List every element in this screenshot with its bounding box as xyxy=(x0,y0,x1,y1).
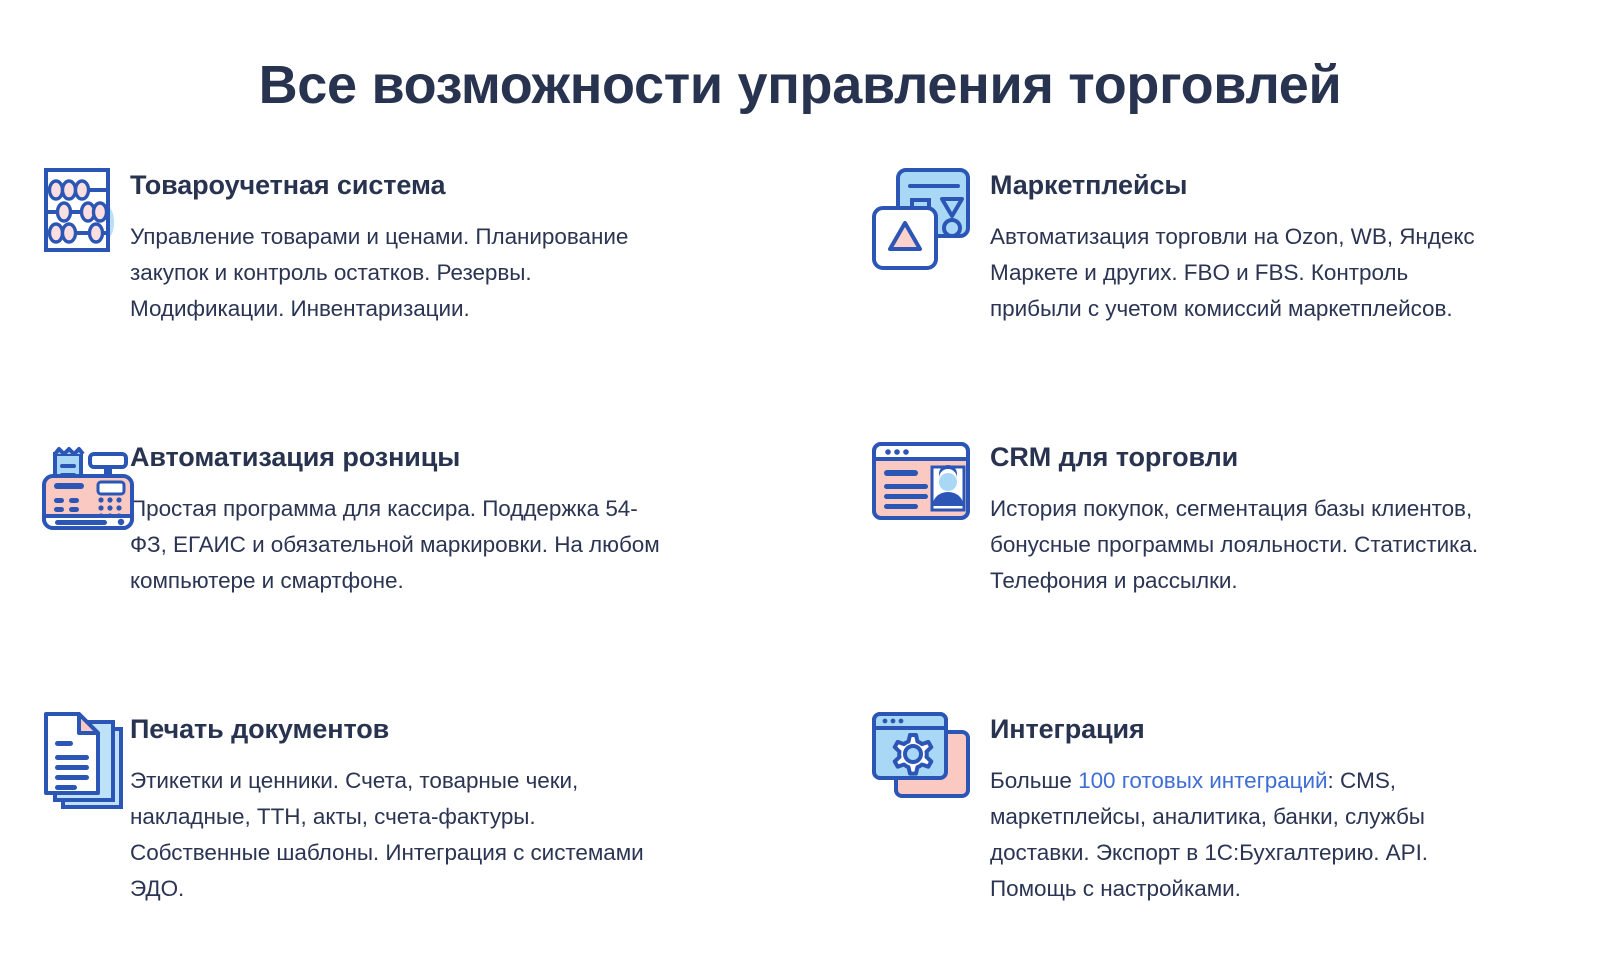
feature-card-crm: CRM для торговли История покупок, сегмен… xyxy=(860,432,1600,704)
feature-text: Управление товарами и ценами. Планирован… xyxy=(130,219,670,327)
feature-card-document-printing: Печать документов Этикетки и ценники. Сч… xyxy=(0,704,860,976)
feature-card-integration: Интеграция Больше 100 готовых интеграций… xyxy=(860,704,1600,976)
page-title: Все возможности управления торговлей xyxy=(0,52,1600,118)
features-grid: Товароучетная система Управление товарам… xyxy=(0,160,1600,976)
feature-card-inventory-system: Товароучетная система Управление товарам… xyxy=(0,160,860,432)
abacus-icon xyxy=(0,160,130,280)
feature-card-marketplaces: Маркетплейсы Автоматизация торговли на O… xyxy=(860,160,1600,432)
feature-title: CRM для торговли xyxy=(990,440,1490,474)
feature-body: Товароучетная система Управление товарам… xyxy=(130,160,670,327)
feature-title: Товароучетная система xyxy=(130,168,670,202)
feature-body: Печать документов Этикетки и ценники. Сч… xyxy=(130,704,670,907)
integration-text-before: Больше xyxy=(990,768,1078,793)
feature-body: Интеграция Больше 100 готовых интеграций… xyxy=(990,704,1490,907)
gear-window-icon xyxy=(860,704,990,824)
feature-text: История покупок, сегментация базы клиент… xyxy=(990,491,1490,599)
feature-text: Больше 100 готовых интеграций: CMS, марк… xyxy=(990,763,1490,907)
feature-body: Маркетплейсы Автоматизация торговли на O… xyxy=(990,160,1490,327)
feature-title: Маркетплейсы xyxy=(990,168,1490,202)
documents-stack-icon xyxy=(0,704,130,824)
cash-register-icon xyxy=(0,432,130,552)
features-page: Все возможности управления торговлей xyxy=(0,0,1600,974)
marketplace-window-icon xyxy=(860,160,990,280)
feature-card-retail-automation: Автоматизация розницы Простая программа … xyxy=(0,432,860,704)
feature-text: Простая программа для кассира. Поддержка… xyxy=(130,491,670,599)
feature-title: Интеграция xyxy=(990,712,1490,746)
feature-title: Печать документов xyxy=(130,712,670,746)
integrations-count-link[interactable]: 100 готовых интеграций xyxy=(1078,768,1327,793)
id-card-icon xyxy=(860,432,990,552)
feature-text: Автоматизация торговли на Ozon, WB, Янде… xyxy=(990,219,1490,327)
feature-text: Этикетки и ценники. Счета, товарные чеки… xyxy=(130,763,670,907)
feature-title: Автоматизация розницы xyxy=(130,440,670,474)
feature-body: CRM для торговли История покупок, сегмен… xyxy=(990,432,1490,599)
feature-body: Автоматизация розницы Простая программа … xyxy=(130,432,670,599)
